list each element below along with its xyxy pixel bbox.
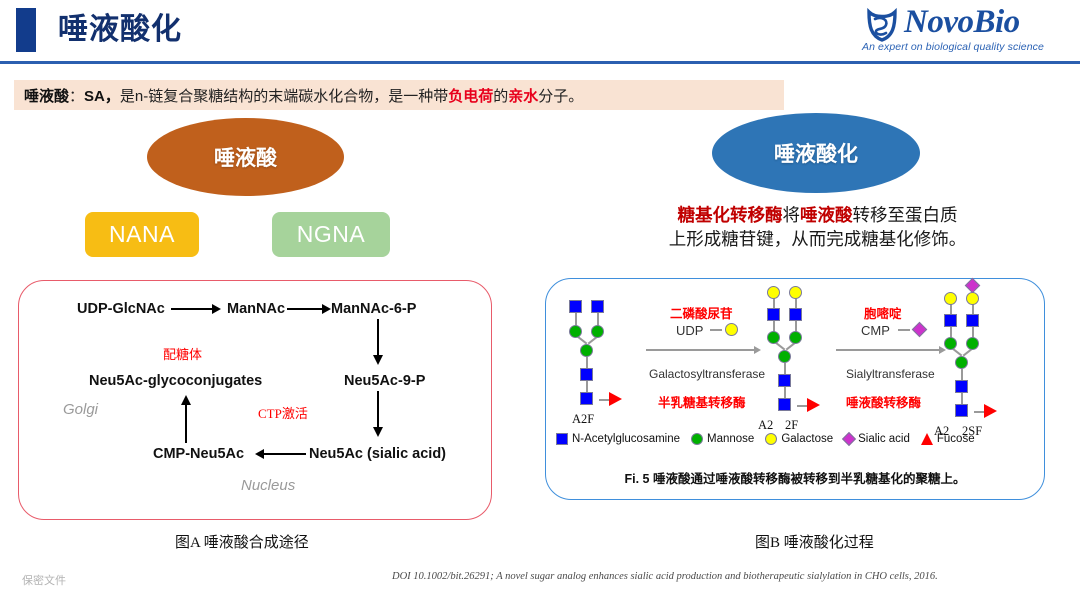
arrow-cmp-to-glycoconjugates-head	[181, 395, 191, 405]
legend-item-sialic-acid: Sialic acid	[844, 433, 910, 445]
legend-label-sialic-acid: Sialic acid	[858, 433, 910, 445]
desc-text-2: 转移至蛋白质	[853, 205, 958, 225]
legend-label-glcnac: N-Acetylglucosamine	[572, 433, 680, 445]
glcnac-square	[955, 380, 968, 393]
arrow-udp-to-mannac	[171, 308, 213, 310]
sialic-acid-diamond	[965, 278, 981, 294]
glcnac-square	[580, 392, 593, 405]
banner-highlight-hydrophilic: 亲水	[508, 85, 538, 106]
panel-synthesis-pathway: UDP-GlcNAc ManNAc ManNAc-6-P 配糖体 Neu5Ac-…	[18, 280, 492, 520]
node-cmp-neu5ac: CMP-Neu5Ac	[153, 446, 244, 462]
glcnac-square	[778, 374, 791, 387]
glcnac-square	[580, 368, 593, 381]
node-udp-glcnac: UDP-GlcNAc	[77, 301, 165, 317]
glcnac-square	[767, 308, 780, 321]
rxn2-donor-cn: 胞嘧啶	[864, 303, 902, 322]
mannose-circle	[966, 337, 979, 350]
galactose-circle-icon	[765, 433, 777, 445]
arrow-mannac-to-6p	[287, 308, 323, 310]
novobio-swirl-icon	[862, 6, 902, 46]
mannose-circle	[955, 356, 968, 369]
mannose-circle	[767, 331, 780, 344]
footer-confidential: 保密文件	[22, 572, 66, 588]
footer-citation: DOI 10.1002/bit.26291; A novel sugar ana…	[392, 571, 938, 582]
mannose-circle	[591, 325, 604, 338]
arrow-cmp-to-glycoconjugates	[185, 405, 187, 443]
brand-logo: NovoBio An expert on biological quality …	[862, 4, 1072, 58]
page-title: 唾液酸化	[58, 8, 182, 52]
mannose-circle	[789, 331, 802, 344]
rxn1-arrow	[646, 349, 756, 351]
banner-colon: ：	[69, 85, 84, 106]
rxn2-enzyme-cn: 唾液酸转移酶	[846, 392, 921, 411]
rxn2-enzyme-en: Sialyltransferase	[846, 367, 935, 381]
glcnac-square	[944, 314, 957, 327]
fucose-triangle	[984, 404, 997, 418]
arrow-mannac-to-6p-head	[322, 304, 331, 314]
logo-wordmark: NovoBio	[904, 4, 1020, 41]
rxn2-donor-abbr: CMP	[861, 323, 890, 338]
node-neu5ac-9p: Neu5Ac-9-P	[344, 373, 425, 389]
arrow-neu5ac-to-cmp-head	[255, 449, 264, 459]
desc-sialic-acid: 唾液酸	[800, 205, 853, 225]
title-accent-bar	[16, 8, 36, 52]
arrow-6p-to-9p-head	[373, 355, 383, 365]
arrow-neu5ac-to-cmp	[264, 453, 306, 455]
legend-item-fucose: Fucose	[921, 433, 975, 445]
legend-item-galactose: Galactose	[765, 433, 833, 445]
glcnac-square	[569, 300, 582, 313]
panel-sialylation-process: A2F 二磷酸尿苷 UDP Galactosyltransferase 半乳糖基…	[545, 278, 1045, 500]
banner-term: 唾液酸	[24, 85, 69, 106]
desc-enzyme: 糖基化转移酶	[678, 205, 783, 225]
legend-label-galactose: Galactose	[781, 433, 833, 445]
banner-abbr: SA，	[84, 85, 120, 106]
galactose-circle	[966, 292, 979, 305]
legend-label-fucose: Fucose	[937, 433, 975, 445]
mannose-circle	[778, 350, 791, 363]
sialic-acid-diamond-icon	[842, 432, 856, 446]
glycan-legend: N-Acetylglucosamine Mannose Galactose Si…	[556, 430, 1036, 448]
galactose-circle-donor	[725, 323, 738, 336]
galactose-circle	[789, 286, 802, 299]
glcnac-square	[778, 398, 791, 411]
mannose-circle	[944, 337, 957, 350]
legend-label-mannose: Mannose	[707, 433, 754, 445]
header-divider	[0, 61, 1080, 64]
glcnac-square	[789, 308, 802, 321]
arrow-9p-to-neu5ac-head	[373, 427, 383, 437]
rxn1-enzyme-en: Galactosyltransferase	[649, 367, 765, 381]
compartment-nucleus: Nucleus	[241, 477, 295, 494]
sialic-acid-diamond-donor	[912, 322, 928, 338]
rxn1-enzyme-cn: 半乳糖基转移酶	[658, 392, 746, 411]
glcnac-square	[591, 300, 604, 313]
glcnac-square-icon	[556, 433, 568, 445]
compartment-golgi: Golgi	[63, 401, 98, 418]
desc-text-3: 上形成糖苷键，从而完成糖基化修饰。	[669, 229, 967, 249]
banner-highlight-charge: 负电荷	[448, 85, 493, 106]
sialylation-description: 糖基化转移酶将唾液酸转移至蛋白质上形成糖苷键，从而完成糖基化修饰。	[600, 204, 1035, 251]
legend-item-mannose: Mannose	[691, 433, 754, 445]
caption-figure-a: 图A 唾液酸合成途径	[175, 531, 309, 552]
annotation-aglycone: 配糖体	[163, 344, 202, 363]
rxn1-donor-cn: 二磷酸尿苷	[670, 303, 733, 322]
page-header: 唾液酸化 NovoBio An expert on biological qua…	[0, 0, 1080, 60]
mannose-circle-icon	[691, 433, 703, 445]
sialic-acid-ellipse: 唾液酸	[147, 118, 344, 196]
node-mannac: ManNAc	[227, 301, 285, 317]
fucose-triangle	[807, 398, 820, 412]
glycan-label-a2f: A2F	[572, 412, 594, 427]
arrow-udp-to-mannac-head	[212, 304, 221, 314]
fucose-triangle-icon	[921, 433, 933, 445]
rxn1-donor-abbr: UDP	[676, 323, 703, 338]
banner-text-2: 的	[493, 85, 508, 106]
fucose-triangle	[609, 392, 622, 406]
chip-nana: NANA	[85, 212, 199, 257]
desc-text-1: 将	[783, 205, 801, 225]
banner-text-3: 分子。	[538, 85, 583, 106]
mannose-circle	[569, 325, 582, 338]
node-neu5ac-sialic: Neu5Ac (sialic acid)	[309, 446, 446, 462]
annotation-ctp-activation: CTP激活	[258, 403, 308, 422]
sialylation-ellipse: 唾液酸化	[712, 113, 920, 193]
rxn2-arrow	[836, 349, 941, 351]
definition-banner: 唾液酸 ： SA， 是n-链复合聚糖结构的末端碳水化合物，是一种带 负电荷 的 …	[14, 80, 784, 110]
rxn1-arrow-head	[754, 346, 761, 354]
figure-5-caption: Fi. 5 唾液酸通过唾液酸转移酶被转移到半乳糖基化的聚糖上。	[545, 468, 1045, 487]
glcnac-square	[966, 314, 979, 327]
galactose-circle	[944, 292, 957, 305]
banner-text-1: 是n-链复合聚糖结构的末端碳水化合物，是一种带	[120, 85, 448, 106]
node-mannac-6p: ManNAc-6-P	[331, 301, 416, 317]
caption-figure-b: 图B 唾液酸化过程	[755, 531, 874, 552]
glcnac-square	[955, 404, 968, 417]
arrow-6p-to-9p	[377, 319, 379, 357]
mannose-circle	[580, 344, 593, 357]
logo-tagline: An expert on biological quality science	[862, 41, 1044, 53]
chip-ngna: NGNA	[272, 212, 390, 257]
arrow-9p-to-neu5ac	[377, 391, 379, 429]
galactose-circle	[767, 286, 780, 299]
legend-item-glcnac: N-Acetylglucosamine	[556, 433, 680, 445]
node-neu5ac-glycoconjugates: Neu5Ac-glycoconjugates	[89, 373, 262, 389]
